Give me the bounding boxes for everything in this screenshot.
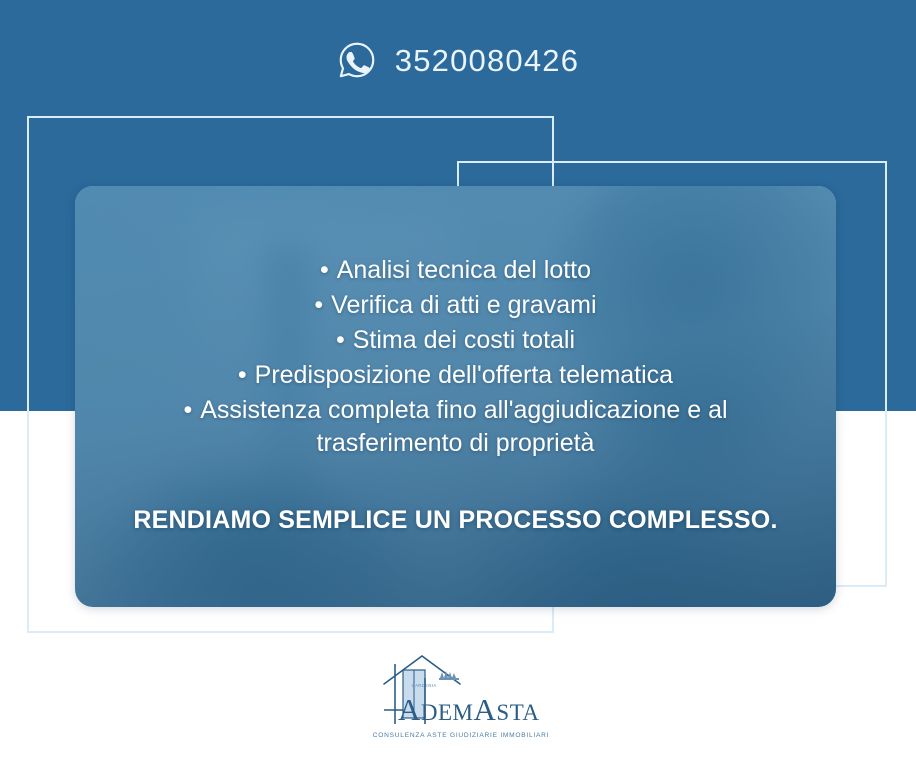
whatsapp-icon[interactable]	[337, 40, 377, 80]
tagline-text: RENDIAMO SEMPLICE UN PROCESSO COMPLESSO.	[133, 506, 777, 535]
list-item: Assistenza completa fino all'aggiudicazi…	[126, 394, 786, 460]
list-item: Verifica di atti e gravami	[126, 289, 786, 322]
logo-name-a1: A	[398, 692, 421, 727]
logo-name-a2: A	[474, 692, 497, 727]
phone-number[interactable]: 3520080426	[395, 45, 579, 76]
crown-crest-icon	[439, 671, 459, 680]
list-item: Analisi tecnica del lotto	[126, 254, 786, 287]
logo-name-sta: STA	[496, 700, 539, 725]
content-card: Analisi tecnica del lotto Verifica di at…	[75, 186, 836, 607]
list-item: Stima dei costi totali	[126, 324, 786, 357]
logo-name-dem: DEM	[421, 700, 474, 725]
logo-crest-caption: GARDENIA	[394, 683, 454, 688]
service-bullet-list: Analisi tecnica del lotto Verifica di at…	[126, 254, 786, 462]
poster-canvas: 3520080426 Analisi tecnica del lotto Ver…	[0, 0, 916, 768]
logo-subtitle: CONSULENZA ASTE GIUDIZIARIE IMMOBILIARI	[364, 732, 558, 739]
logo-wordmark: ADEMASTA	[398, 694, 558, 725]
header-contact: 3520080426	[0, 30, 916, 90]
brand-logo: GARDENIA ADEMASTA CONSULENZA ASTE GIUDIZ…	[0, 648, 916, 748]
list-item: Predisposizione dell'offerta telematica	[126, 359, 786, 392]
card-content: Analisi tecnica del lotto Verifica di at…	[75, 186, 836, 607]
